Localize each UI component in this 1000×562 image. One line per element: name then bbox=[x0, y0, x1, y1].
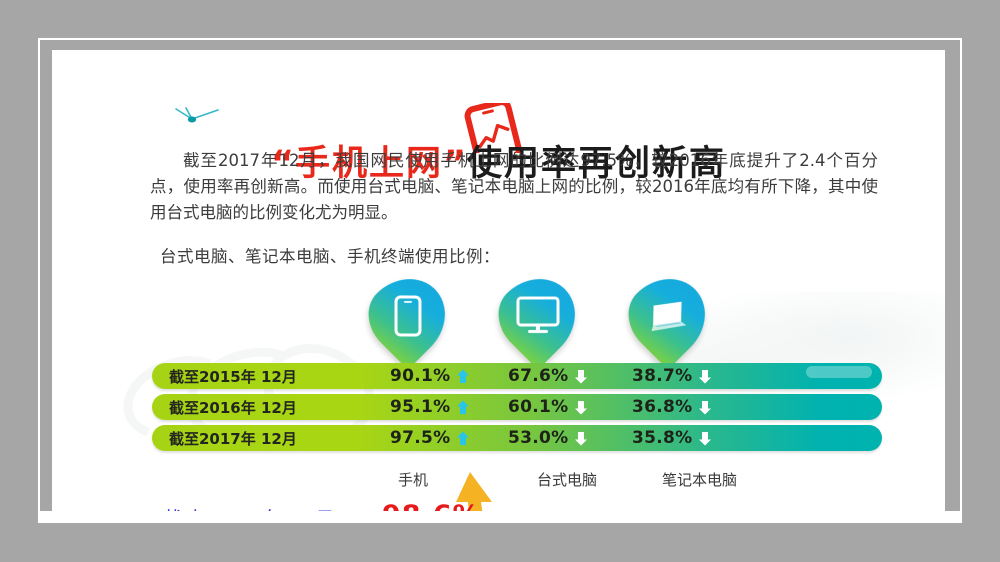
row-period: 截至2015年 12月 bbox=[169, 366, 297, 387]
slide-stage: “手机上网”使用率再创新高 截至2017年12月，我国网民使用手机上网的比例达9… bbox=[0, 0, 1000, 562]
cell-value: 95.1% bbox=[390, 397, 450, 417]
stat-bar-list: 截至2015年 12月 90.1% 67.6% 38.7% bbox=[152, 363, 882, 456]
cell-value: 35.8% bbox=[632, 428, 692, 448]
arrow-up-icon bbox=[456, 431, 470, 446]
arrow-down-icon bbox=[698, 400, 712, 415]
cell-value: 97.5% bbox=[390, 428, 450, 448]
cell-mobile: 90.1% bbox=[390, 366, 470, 386]
cell-value: 90.1% bbox=[390, 366, 450, 386]
slide-frame-bottom-strip bbox=[40, 511, 960, 521]
cell-desktop: 60.1% bbox=[508, 397, 588, 417]
table-row: 截至2017年 12月 97.5% 53.0% 35.8% bbox=[152, 425, 882, 451]
highlight-row-2018: 截止2018年12月 98.6% bbox=[152, 502, 882, 511]
category-label-row: 手机 台式电脑 笔记本电脑 bbox=[152, 469, 882, 491]
highlight-row-label: 截止2018年12月 bbox=[162, 504, 336, 511]
table-row: 截至2015年 12月 90.1% 67.6% 38.7% bbox=[152, 363, 882, 389]
cell-desktop: 67.6% bbox=[508, 366, 588, 386]
arrow-down-icon bbox=[574, 431, 588, 446]
category-label-mobile: 手机 bbox=[398, 469, 428, 490]
slide-canvas: “手机上网”使用率再创新高 截至2017年12月，我国网民使用手机上网的比例达9… bbox=[52, 50, 945, 511]
device-pin-row bbox=[52, 278, 945, 350]
row-period: 截至2017年 12月 bbox=[169, 428, 297, 449]
cell-mobile: 95.1% bbox=[390, 397, 470, 417]
cell-laptop: 36.8% bbox=[632, 397, 712, 417]
cell-value: 60.1% bbox=[508, 397, 568, 417]
cell-laptop: 38.7% bbox=[632, 366, 712, 386]
pin-laptop bbox=[614, 262, 721, 369]
cell-desktop: 53.0% bbox=[508, 428, 588, 448]
cell-value: 67.6% bbox=[508, 366, 568, 386]
highlight-row-value: 98.6% bbox=[382, 500, 481, 511]
row-period: 截至2016年 12月 bbox=[169, 397, 297, 418]
bar-gloss-highlight bbox=[806, 366, 872, 378]
cell-value: 36.8% bbox=[632, 397, 692, 417]
laptop-icon bbox=[645, 296, 691, 336]
table-row: 截至2016年 12月 95.1% 60.1% 36.8% bbox=[152, 394, 882, 420]
cell-mobile: 97.5% bbox=[390, 428, 470, 448]
mobile-phone-icon bbox=[391, 294, 425, 338]
category-label-desktop: 台式电脑 bbox=[537, 469, 597, 490]
cell-laptop: 35.8% bbox=[632, 428, 712, 448]
arrow-down-icon bbox=[698, 431, 712, 446]
arrow-down-icon bbox=[574, 400, 588, 415]
cell-value: 38.7% bbox=[632, 366, 692, 386]
arrow-down-icon bbox=[574, 369, 588, 384]
arrow-down-icon bbox=[698, 369, 712, 384]
arrow-up-icon bbox=[456, 369, 470, 384]
desktop-monitor-icon bbox=[516, 296, 560, 336]
body-paragraph: 截至2017年12月，我国网民使用手机上网的比例达97.5%，较2016年底提升… bbox=[150, 148, 878, 226]
pin-mobile bbox=[354, 262, 461, 369]
arrow-up-icon bbox=[456, 400, 470, 415]
category-label-laptop: 笔记本电脑 bbox=[662, 469, 737, 490]
paragraph-text: 截至2017年12月，我国网民使用手机上网的比例达97.5%，较2016年底提升… bbox=[150, 148, 878, 226]
pin-desktop bbox=[484, 262, 591, 369]
cell-value: 53.0% bbox=[508, 428, 568, 448]
subheading: 台式电脑、笔记本电脑、手机终端使用比例： bbox=[160, 243, 500, 267]
